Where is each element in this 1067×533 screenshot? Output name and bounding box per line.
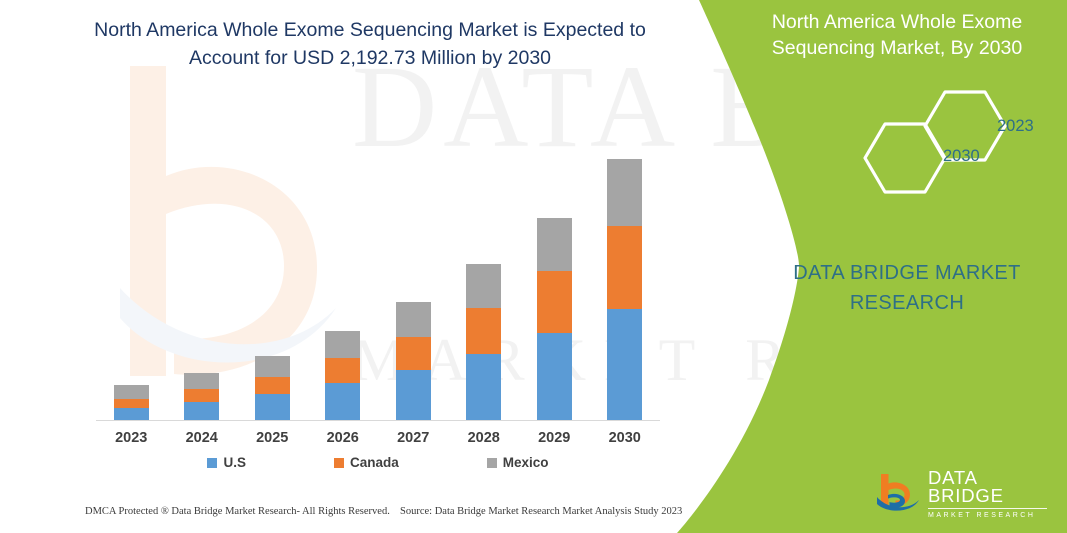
x-axis-label: 2023: [96, 430, 167, 446]
chart-plot-area: [96, 140, 660, 421]
x-axis-label: 2030: [590, 430, 661, 446]
panel-brand-line-1: DATA BRIDGE MARKET: [757, 258, 1057, 288]
chart-legend: U.SCanadaMexico: [96, 455, 660, 470]
legend-label: Mexico: [503, 455, 549, 470]
bar-segment-us[interactable]: [466, 354, 501, 421]
logo-secondary-text: MARKET RESEARCH: [928, 512, 1047, 519]
logo-divider: [928, 508, 1047, 509]
logo-primary-text: DATA BRIDGE: [928, 469, 1047, 506]
bar-segment-mexico[interactable]: [607, 159, 642, 226]
infographic-root: DATA BRIDGE MARKET RESEARCH North Americ…: [0, 0, 1067, 533]
panel-brand: DATA BRIDGE MARKET RESEARCH: [757, 258, 1057, 318]
bar-segment-mexico[interactable]: [255, 356, 290, 377]
bar-group: [519, 140, 590, 421]
x-axis-labels: 20232024202520262027202820292030: [96, 430, 660, 446]
bar-segment-us[interactable]: [184, 402, 219, 421]
x-axis-label: 2025: [237, 430, 308, 446]
bar-series-container: [96, 140, 660, 421]
x-axis-label: 2024: [167, 430, 238, 446]
footer-copyright: DMCA Protected ® Data Bridge Market Rese…: [85, 506, 390, 517]
legend-swatch-icon: [487, 458, 497, 468]
legend-item-mexico[interactable]: Mexico: [487, 455, 549, 470]
logo-wordmark: DATA BRIDGE MARKET RESEARCH: [928, 467, 1047, 520]
bar-stack[interactable]: [114, 385, 149, 421]
data-bridge-logo: DATA BRIDGE MARKET RESEARCH: [875, 467, 1047, 519]
hex-label-2030: 2030: [943, 147, 980, 166]
bar-stack[interactable]: [325, 331, 360, 421]
bar-segment-mexico[interactable]: [325, 331, 360, 358]
legend-swatch-icon: [334, 458, 344, 468]
bar-segment-us[interactable]: [255, 394, 290, 421]
green-panel-content: North America Whole Exome Sequencing Mar…: [677, 0, 1067, 533]
bar-stack[interactable]: [607, 159, 642, 421]
bar-segment-mexico[interactable]: [184, 373, 219, 390]
x-axis-label: 2028: [449, 430, 520, 446]
bar-segment-canada[interactable]: [325, 358, 360, 383]
bar-segment-canada[interactable]: [255, 377, 290, 395]
bar-segment-canada[interactable]: [607, 226, 642, 309]
bar-segment-canada[interactable]: [466, 308, 501, 354]
hex-label-2023: 2023: [997, 117, 1034, 136]
x-axis-label: 2027: [378, 430, 449, 446]
bar-group: [167, 140, 238, 421]
legend-item-us[interactable]: U.S: [207, 455, 246, 470]
legend-label: Canada: [350, 455, 399, 470]
bar-segment-mexico[interactable]: [114, 385, 149, 399]
hexagon-group: 2023 2030: [805, 88, 1055, 198]
bar-stack[interactable]: [184, 373, 219, 421]
bar-segment-us[interactable]: [396, 370, 431, 421]
data-bridge-b-mark-icon: [875, 471, 921, 515]
bar-segment-mexico[interactable]: [396, 302, 431, 336]
bar-stack[interactable]: [466, 264, 501, 421]
bar-segment-us[interactable]: [114, 408, 149, 421]
hexagon-outlines-icon: [805, 88, 1055, 198]
panel-brand-line-2: RESEARCH: [757, 288, 1057, 318]
bar-stack[interactable]: [396, 302, 431, 421]
x-axis-label: 2029: [519, 430, 590, 446]
bar-segment-canada[interactable]: [537, 271, 572, 333]
bar-segment-mexico[interactable]: [537, 218, 572, 271]
chart-title: North America Whole Exome Sequencing Mar…: [70, 17, 670, 72]
bar-group: [449, 140, 520, 421]
bar-segment-canada[interactable]: [114, 399, 149, 407]
panel-title: North America Whole Exome Sequencing Mar…: [737, 10, 1057, 61]
bar-segment-us[interactable]: [537, 333, 572, 421]
legend-swatch-icon: [207, 458, 217, 468]
bar-group: [237, 140, 308, 421]
x-axis-label: 2026: [308, 430, 379, 446]
bar-group: [96, 140, 167, 421]
legend-label: U.S: [223, 455, 246, 470]
bar-segment-us[interactable]: [325, 383, 360, 421]
bar-segment-mexico[interactable]: [466, 264, 501, 308]
bar-segment-canada[interactable]: [396, 337, 431, 371]
bar-group: [590, 140, 661, 421]
bar-stack[interactable]: [537, 218, 572, 421]
bar-stack[interactable]: [255, 356, 290, 421]
bar-segment-canada[interactable]: [184, 389, 219, 402]
bar-group: [378, 140, 449, 421]
bar-group: [308, 140, 379, 421]
footer-source: Source: Data Bridge Market Research Mark…: [400, 506, 682, 517]
legend-item-canada[interactable]: Canada: [334, 455, 399, 470]
chart-panel: North America Whole Exome Sequencing Mar…: [0, 0, 712, 533]
bar-segment-us[interactable]: [607, 309, 642, 421]
x-axis-line: [96, 420, 660, 421]
